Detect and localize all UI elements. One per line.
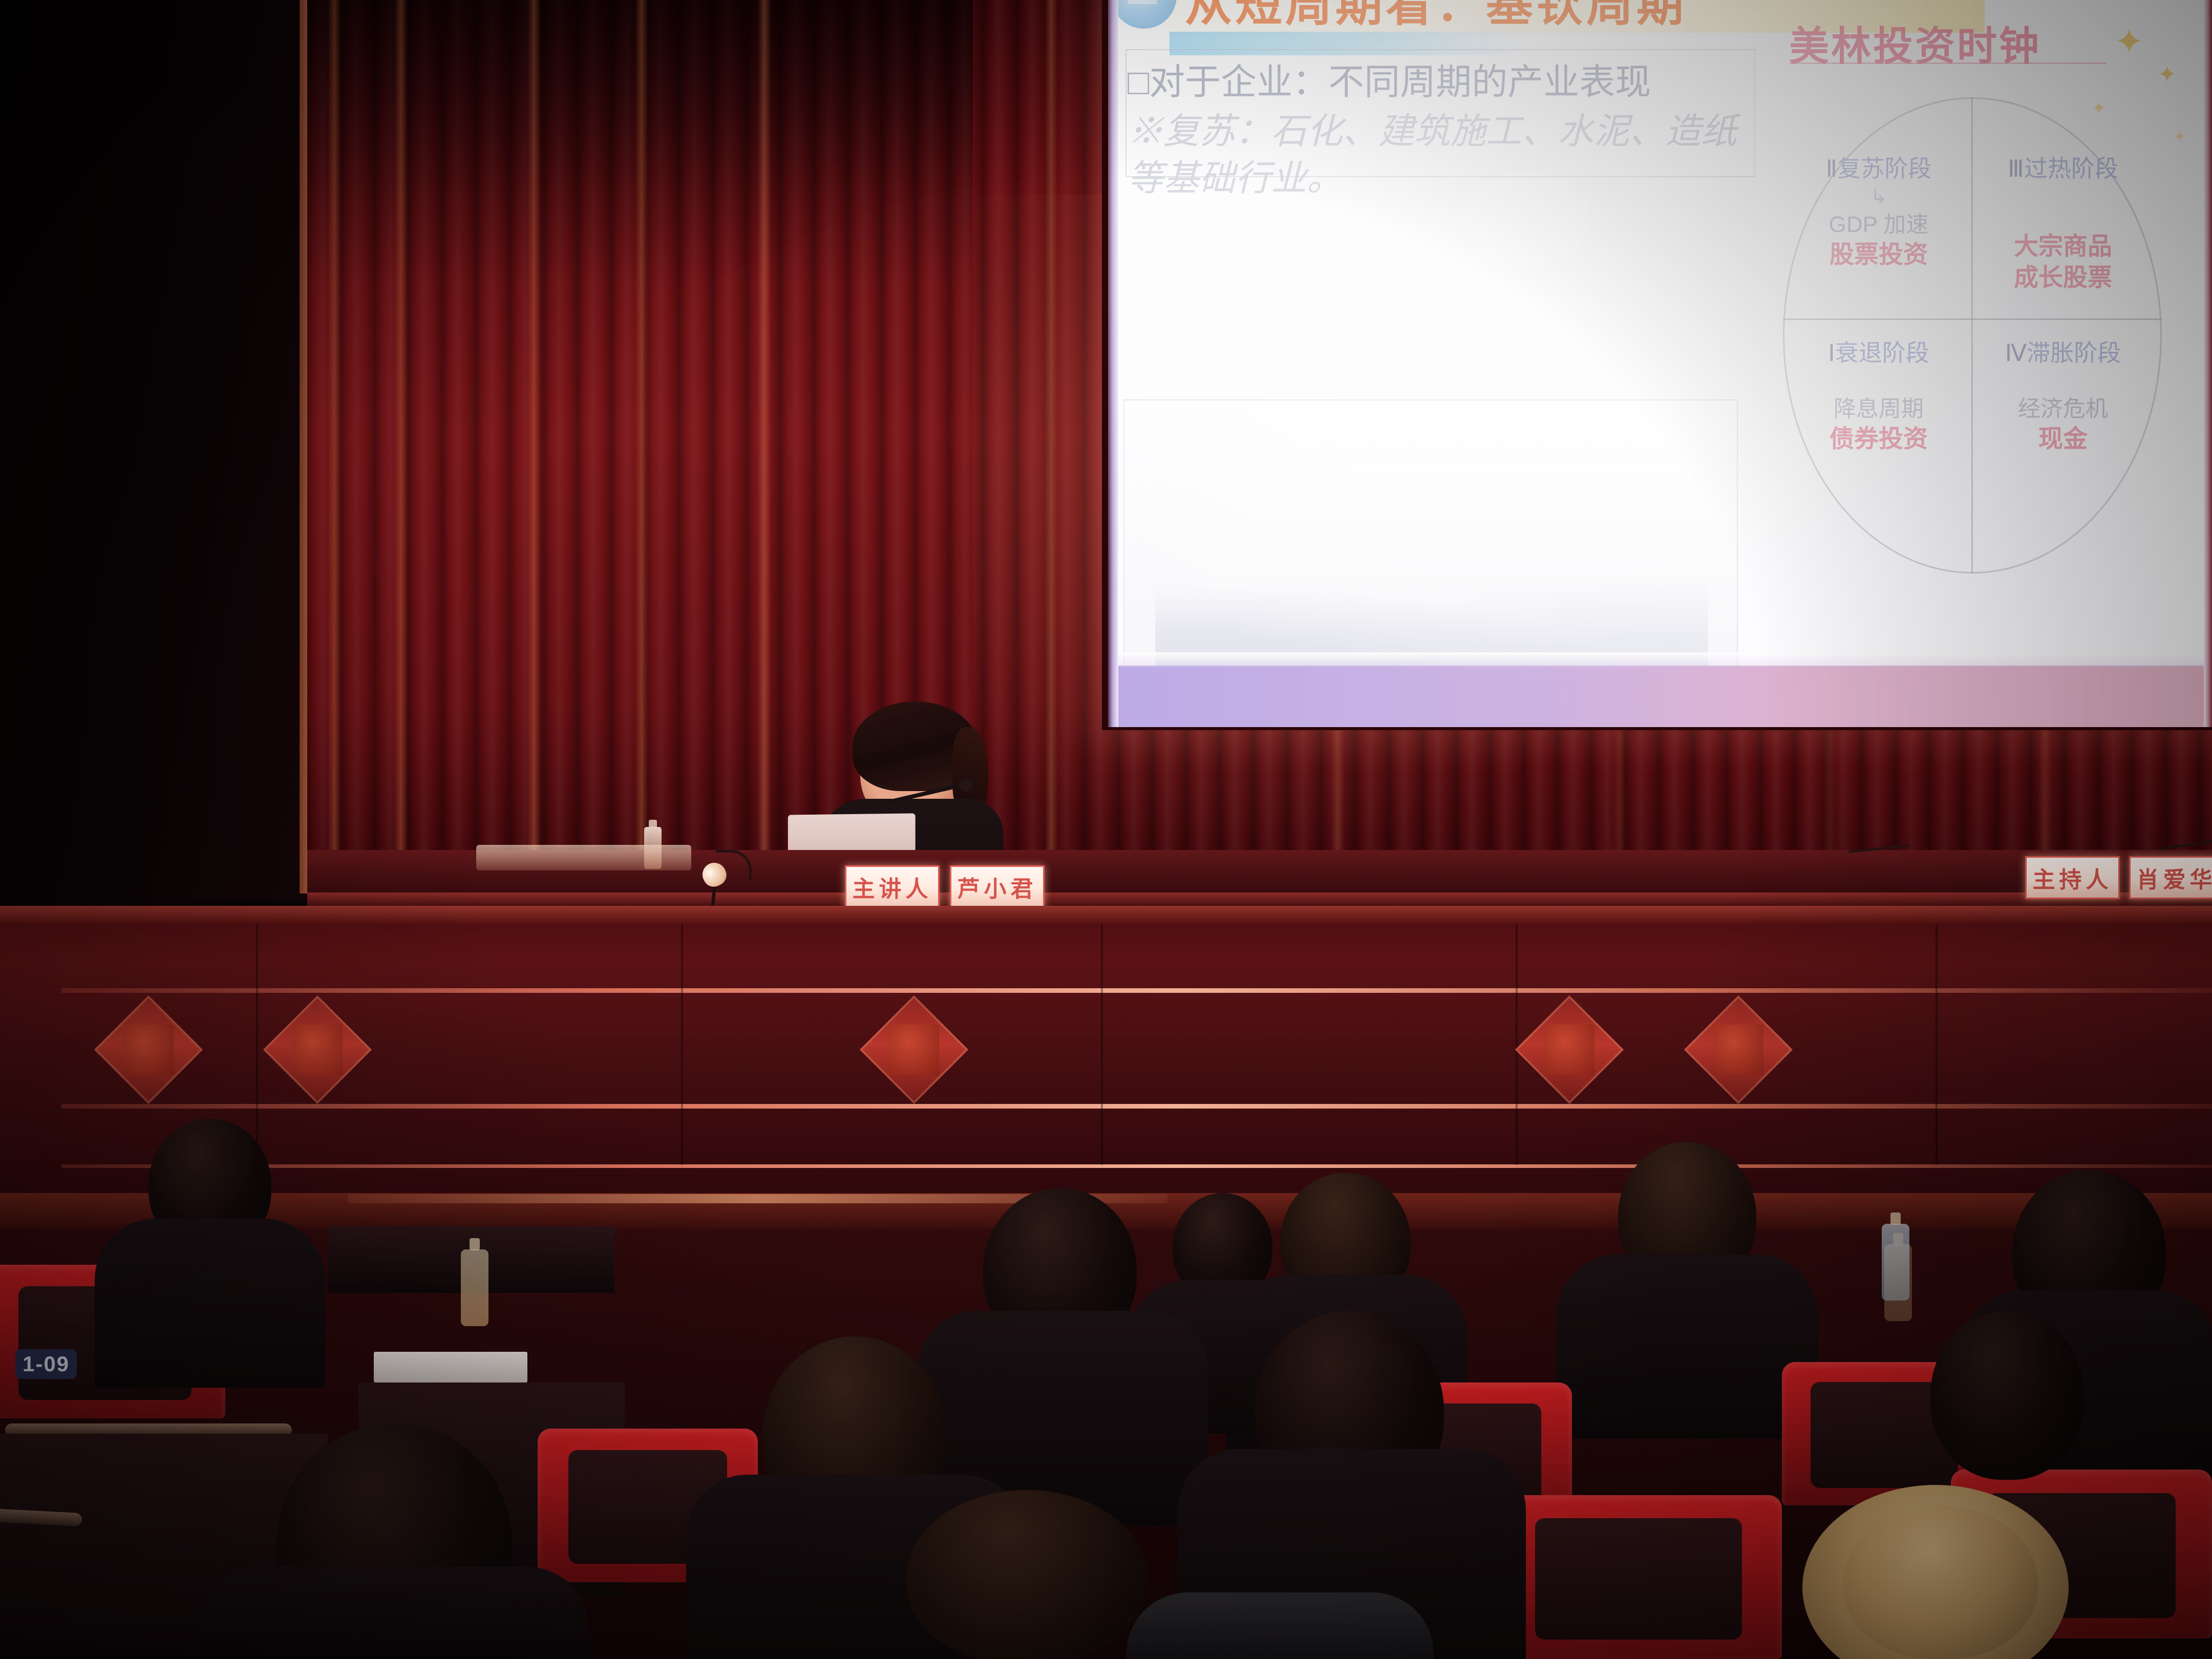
quadrant-asset: 现金 — [1979, 423, 2147, 455]
star-icon: ✦ — [2091, 97, 2107, 119]
screen-left-edge — [1108, 0, 1118, 727]
audience-coat — [1126, 1592, 1434, 1659]
quadrant-indicator: 降息周期 — [1794, 395, 1963, 423]
curtain-fold — [394, 0, 408, 899]
slide-body-line-1: □对于企业：不同周期的产业表现 — [1128, 53, 1651, 105]
stage-panel-rail — [61, 1104, 2212, 1109]
audience-head — [1930, 1311, 2084, 1480]
front-row-bottle — [461, 1249, 488, 1326]
stage-panel-rail — [61, 988, 2212, 993]
quadrant-asset-line2: 成长股票 — [1979, 262, 2147, 293]
quadrant-phase: 滞胀阶段 — [2027, 339, 2121, 366]
desk-water-bottle — [644, 827, 662, 869]
audience-shoulders — [200, 1567, 589, 1659]
quadrant-numeral: Ⅱ — [1826, 155, 1838, 182]
stage-panel-seam — [681, 924, 683, 1165]
clock-quadrant-overheat: Ⅲ过热阶段 大宗商品 成长股票 — [1979, 154, 2147, 294]
host-role-plate-text: 主持人 — [2033, 861, 2113, 894]
front-row-paper — [374, 1352, 527, 1382]
curtain-fold — [527, 0, 541, 899]
quadrant-numeral: Ⅰ — [1828, 339, 1835, 366]
slide-lower-chart-panel — [1123, 399, 1738, 686]
investment-clock-vertical-divider — [1971, 97, 1973, 573]
host-role-plate: 主持人 — [2025, 856, 2120, 899]
star-icon: ✦ — [2173, 128, 2186, 146]
audience-bottle — [1884, 1244, 1912, 1321]
stage-panel-seam — [256, 924, 258, 1165]
seat-number-text: 1-09 — [23, 1352, 70, 1376]
seat-number-badge: 1-09 — [15, 1349, 77, 1379]
stage-panel-rail — [61, 1164, 2212, 1168]
speaker-role-plate: 主讲人 — [845, 865, 940, 908]
quadrant-arrow-icon: ↳ — [1794, 184, 1963, 210]
stage-panel-seam — [1936, 924, 1938, 1165]
left-stage-wing-dark — [0, 0, 307, 901]
clock-quadrant-stagflation: Ⅳ滞胀阶段 经济危机 现金 — [1979, 338, 2147, 455]
slide-body-line-3: 等基础行业。 — [1128, 150, 1343, 201]
quadrant-asset-line1: 大宗商品 — [1979, 231, 2147, 262]
audience-shoulders — [95, 1219, 325, 1388]
speaker-name-plate: 芦小君 — [950, 865, 1045, 908]
audience-head — [906, 1490, 1147, 1659]
slide-bottom-gradient-band — [1108, 666, 2212, 727]
auditorium-seat[interactable] — [1495, 1495, 1782, 1659]
quadrant-numeral: Ⅳ — [2005, 339, 2027, 366]
speaker-role-plate-text: 主讲人 — [853, 870, 932, 903]
clock-quadrant-recovery: Ⅱ复苏阶段 ↳ GDP 加速 股票投资 — [1794, 154, 1963, 271]
investment-clock-horizontal-divider — [1783, 318, 2162, 320]
stage-panel-seam — [1101, 924, 1103, 1165]
seat-cushion — [1535, 1518, 1741, 1640]
investment-clock-heading-rule — [1789, 62, 2107, 64]
quadrant-phase: 衰退阶段 — [1835, 339, 1929, 366]
quadrant-numeral: Ⅲ — [2008, 155, 2024, 182]
projection-screen: 从短周期看：基钦周期 ✦ ✦ ✦ ✦ □对于企业：不同周期的产业表现 ※复苏：石… — [1108, 0, 2212, 727]
audience-shoulders — [1557, 1254, 1818, 1439]
curtain-fold — [1045, 0, 1058, 899]
quadrant-indicator: GDP 加速 — [1794, 210, 1963, 239]
curtain-fold — [328, 0, 341, 899]
host-name-plate-text: 肖爱华 — [2137, 861, 2212, 894]
host-name-plate: 肖爱华 — [2129, 856, 2212, 899]
quadrant-phase: 复苏阶段 — [1837, 155, 1931, 182]
quadrant-asset: 股票投资 — [1794, 239, 1963, 270]
curtain-fold — [635, 0, 648, 899]
lecture-hall-photo: 从短周期看：基钦周期 ✦ ✦ ✦ ✦ □对于企业：不同周期的产业表现 ※复苏：石… — [0, 0, 2212, 1659]
stage-panel-seam — [1516, 924, 1518, 1165]
quadrant-phase: 过热阶段 — [2024, 155, 2118, 182]
slide-body-line-2: ※复苏：石化、建筑施工、水泥、造纸 — [1128, 102, 1737, 154]
screen-right-edge — [2204, 0, 2212, 727]
quadrant-indicator: 经济危机 — [1979, 395, 2147, 423]
star-icon: ✦ — [2158, 61, 2177, 88]
speaker-name-plate-text: 芦小君 — [958, 870, 1037, 903]
audience-head-blonde — [1843, 1505, 2038, 1659]
quadrant-asset: 债券投资 — [1794, 423, 1963, 455]
stage-front-top-trim — [0, 906, 2212, 924]
head-table-front-edge — [307, 892, 2212, 906]
clock-quadrant-recession: Ⅰ衰退阶段 降息周期 债券投资 — [1794, 338, 1963, 455]
curtain-fold — [758, 0, 771, 899]
